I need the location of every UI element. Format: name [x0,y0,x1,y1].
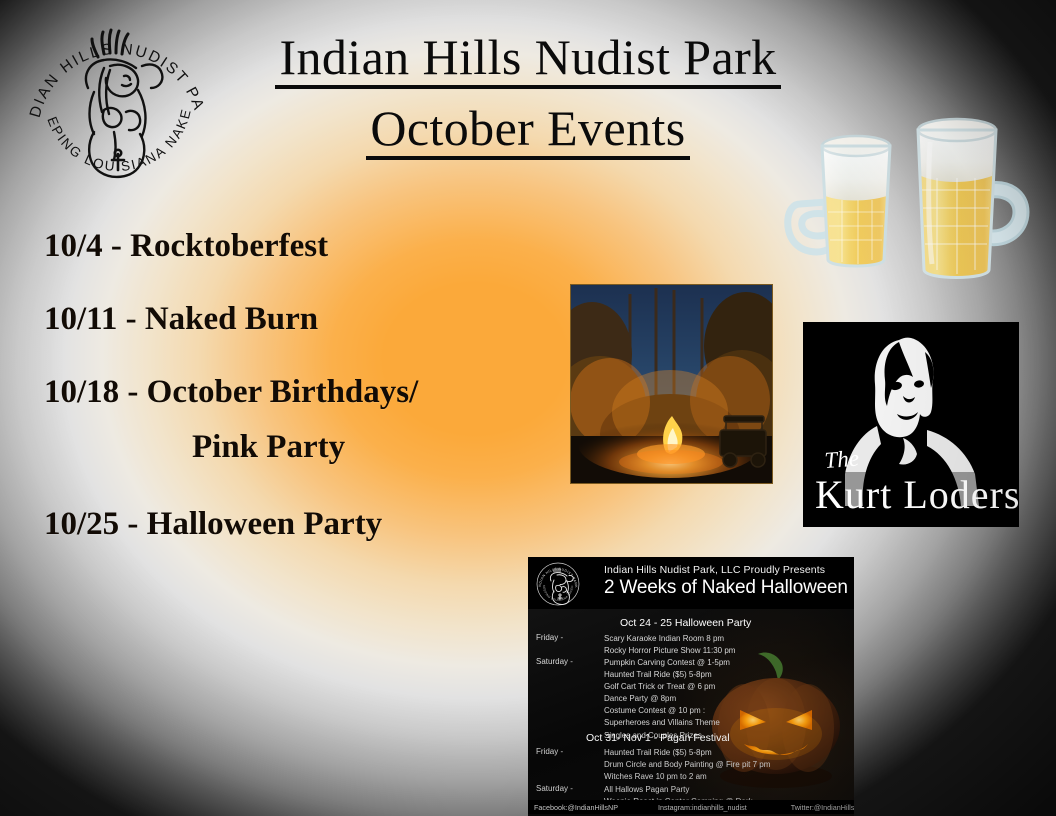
event-list: 10/4 - Rocktoberfest 10/11 - Naked Burn … [44,228,564,579]
event-item: 10/11 - Naked Burn [44,301,564,338]
poster-section1-friday-items: Scary Karaoke Indian Room 8 pm Rocky Hor… [604,633,735,657]
poster-line: Drum Circle and Body Painting @ Fire pit… [604,759,770,771]
poster-section2-friday-items: Haunted Trail Ride ($5) 5-8pm Drum Circl… [604,747,770,783]
poster-line: Rocky Horror Picture Show 11:30 pm [604,645,735,657]
poster-line: Costume Contest @ 10 pm : [604,705,730,717]
poster-section2-friday-label: Friday - [536,747,563,756]
poster-section1-friday-label: Friday - [536,633,563,642]
kurt-loders-band-image: The Kurt Loders [803,322,1019,527]
kurt-loders-name-text: Kurt Loders [815,472,1019,517]
beer-mugs-image [782,108,1056,294]
poster-line: Haunted Trail Ride ($5) 5-8pm [604,747,770,759]
bonfire-photo [570,284,773,484]
event-item: 10/18 - October Birthdays/ [44,374,564,411]
poster-section2-saturday-label: Saturday - [536,784,573,793]
poster-main-title: 2 Weeks of Naked Halloween [604,577,848,599]
poster-line: All Hallows Pagan Party [604,784,752,796]
facebook-handle[interactable]: Facebook:@IndianHillsNP [534,803,618,812]
event-item-continuation: Pink Party [192,429,564,466]
event-item: 10/25 - Halloween Party [44,506,564,543]
poster-social-bar: Facebook:@IndianHillsNP Instagram:indian… [528,800,854,814]
poster-line: Golf Cart Trick or Treat @ 6 pm [604,681,730,693]
poster-line: Haunted Trail Ride ($5) 5-8pm [604,669,730,681]
twitter-handle[interactable]: Twitter:@IndianHillsNP [791,803,854,812]
poster-section2-title: Oct 31- Nov 1 - Pagan Festival [586,732,730,744]
kurt-loders-the-text: The [824,446,860,473]
poster-section1-title: Oct 24 - 25 Halloween Party [620,617,751,629]
poster-line: Scary Karaoke Indian Room 8 pm [604,633,735,645]
title-line-2: October Events [366,103,689,160]
poster-section1-saturday-label: Saturday - [536,657,573,666]
instagram-handle[interactable]: Instagram:indianhills_nudist [658,803,747,812]
event-item: 10/4 - Rocktoberfest [44,228,564,265]
poster-presents-line: Indian Hills Nudist Park, LLC Proudly Pr… [604,564,825,576]
poster-line: Superheroes and Villains Theme [604,717,730,729]
poster-line: Pumpkin Carving Contest @ 1-5pm [604,657,730,669]
title-line-1: Indian Hills Nudist Park [275,32,780,89]
october-events-flyer: INDIAN HILLS NUDIST PARK KEEPING LOUISIA… [0,0,1056,816]
poster-park-logo: INDIAN HILLS NUDIST PARK KEEPING LOUISIA… [536,562,580,606]
poster-line: Witches Rave 10 pm to 2 am [604,771,770,783]
halloween-poster: INDIAN HILLS NUDIST PARK KEEPING LOUISIA… [528,557,854,816]
poster-line: Dance Party @ 8pm [604,693,730,705]
poster-section1-saturday-items: Pumpkin Carving Contest @ 1-5pm Haunted … [604,657,730,742]
